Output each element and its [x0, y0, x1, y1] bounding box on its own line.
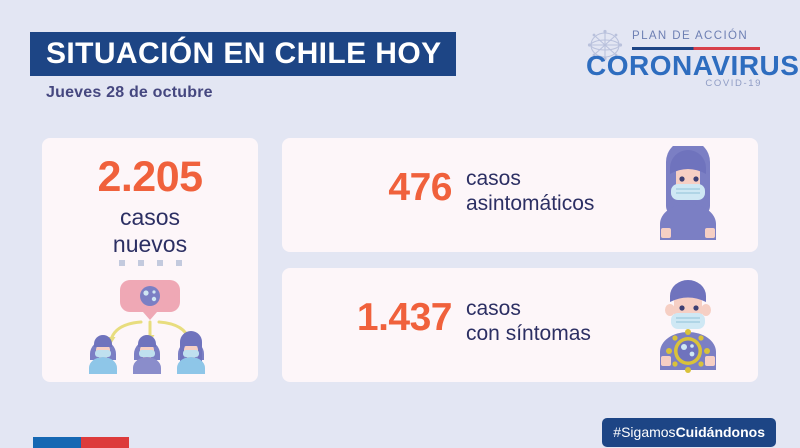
page-title: SITUACIÓN EN CHILE HOY: [46, 39, 442, 69]
date-subtitle: Jueves 28 de octubre: [46, 84, 213, 102]
new-cases-label-line1: casos: [42, 204, 258, 231]
symptomatic-label: casos con síntomas: [466, 296, 591, 346]
asymptomatic-number: 476: [304, 168, 452, 207]
asymptomatic-label-line1: casos: [466, 166, 594, 191]
card-symptomatic-cases: 1.437 casos con síntomas: [282, 268, 758, 382]
card-asymptomatic-cases: 476 casos asintomáticos: [282, 138, 758, 252]
separator-dot: [138, 260, 144, 266]
dot-separator: [42, 260, 258, 266]
chile-flag-bar-icon: [33, 437, 129, 448]
symptomatic-label-line2: con síntomas: [466, 321, 591, 346]
logo-brand-text: CORONAVIRUS: [586, 50, 799, 82]
new-cases-label: casos nuevos: [42, 204, 258, 258]
logo-plan-text: PLAN DE ACCIÓN: [632, 30, 748, 42]
masked-man-with-virus-icon: [640, 276, 736, 374]
hashtag-badge: #SigamosCuidándonos: [602, 418, 776, 447]
separator-dot: [176, 260, 182, 266]
card-new-cases: 2.205 casos nuevos: [42, 138, 258, 382]
logo-covid-text: COVID-19: [705, 78, 762, 89]
new-cases-number: 2.205: [42, 156, 258, 199]
header: SITUACIÓN EN CHILE HOY Jueves 28 de octu…: [0, 0, 800, 122]
new-cases-label-line2: nuevos: [42, 231, 258, 258]
coronavirus-plan-logo: PLAN DE ACCIÓN CORONAVIRUS COVID-19: [584, 26, 764, 92]
symptomatic-number: 1.437: [304, 298, 452, 337]
title-banner: SITUACIÓN EN CHILE HOY: [30, 32, 456, 76]
symptomatic-label-line1: casos: [466, 296, 591, 321]
asymptomatic-label-line2: asintomáticos: [466, 191, 594, 216]
hashtag-bold-text: Cuidándonos: [676, 424, 765, 440]
masked-woman-icon: [640, 146, 736, 244]
separator-dot: [157, 260, 163, 266]
asymptomatic-label: casos asintomáticos: [466, 166, 594, 216]
virus-spread-people-icon: [75, 276, 225, 374]
hashtag-light-text: #Sigamos: [613, 424, 675, 440]
separator-dot: [119, 260, 125, 266]
